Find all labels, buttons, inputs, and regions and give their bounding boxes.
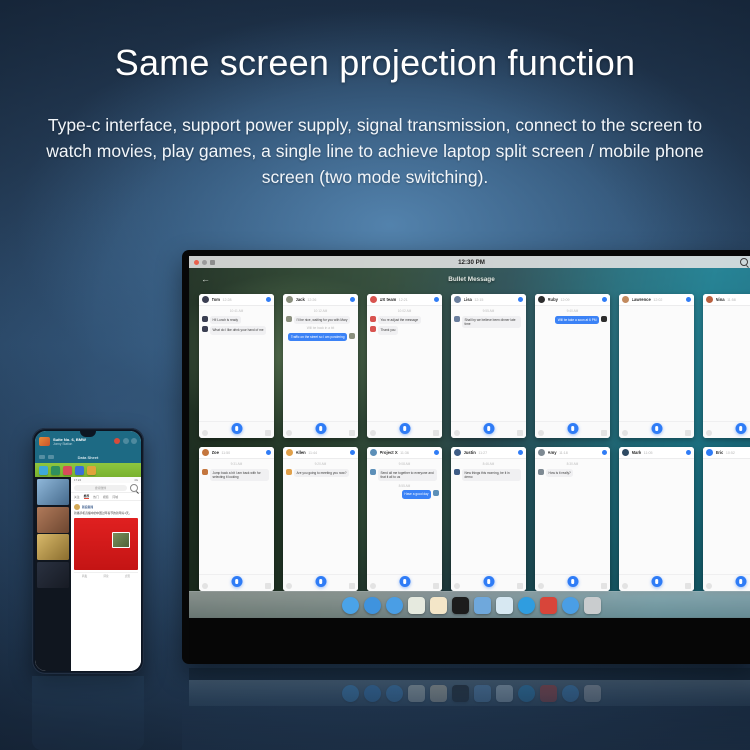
post-action[interactable]: 点赞 (125, 574, 130, 578)
chat-card[interactable]: Ruby12:099:40 AMWill be take a soon at 6… (535, 294, 610, 438)
chat-card-body: 8:46 AMNew things this morning, be it in… (451, 459, 526, 574)
contact-name: Amy (548, 450, 557, 455)
feed-post: 新浪新闻 新播手机直播中的中国过年春节的新年好1天。 转发评论点赞 (71, 501, 141, 671)
monitor-screen: 12:30 PM ← Bullet Message Tom12:2810:41 … (189, 256, 750, 618)
trash-icon[interactable] (39, 466, 48, 475)
chat-card-header: Eric10:52 (703, 447, 750, 459)
chat-card-header: Jack12:26 (283, 294, 358, 306)
chat-message: Send all me together to everyone and tha… (370, 469, 439, 482)
emoji-icon[interactable] (454, 583, 460, 589)
message-bubble: Have a good day (402, 490, 431, 498)
avatar (454, 449, 461, 456)
chat-card-body: 10:41 AMHi! Lunch is readyWhat do I like… (199, 306, 274, 421)
message-timestamp: 8:46 AM (483, 462, 495, 466)
social-feed: 17:24 4G 搜索微博 关注推荐热门视频同城 新浪新闻 新播手机直播中的中国… (71, 477, 141, 671)
monitor-chin (189, 618, 750, 664)
message-bubble: Shall by we believe been dinner late tim… (462, 316, 521, 329)
status-time: 17:24 (74, 478, 81, 482)
file-actions[interactable] (114, 438, 137, 444)
app-title: Bullet Message (189, 276, 750, 283)
app-title-bar: ← Bullet Message (189, 268, 750, 290)
minimize-button[interactable] (123, 438, 129, 444)
phone-device: Suite No. 6, BMW Jonny Station Data Shee… (32, 428, 144, 674)
message-time: 12:02 (653, 298, 662, 302)
chat-card-footer (199, 421, 274, 438)
post-header: 新浪新闻 (74, 504, 138, 510)
keyboard-icon[interactable] (433, 583, 439, 589)
emoji-icon[interactable] (286, 430, 292, 436)
chat-card-body (619, 306, 694, 421)
voice-record-button[interactable] (483, 576, 494, 587)
page-title: Same screen projection function (0, 42, 750, 84)
chat-card-body: 9:55 AMShall by we believe been dinner l… (451, 306, 526, 421)
message-timestamp: Will be back in a bit (307, 326, 334, 330)
keyboard-icon[interactable] (685, 430, 691, 436)
message-bubble: Send all me together to everyone and tha… (378, 469, 437, 482)
avatar (706, 296, 713, 303)
post-text: 新播手机直播中的中国过年春节的新年好1天。 (74, 512, 138, 516)
post-author: 新浪新闻 (82, 505, 93, 509)
voice-record-button[interactable] (483, 423, 494, 434)
chat-card-header: Lisa12:15 (451, 294, 526, 306)
avatar (349, 333, 355, 339)
chat-message: How is it really? (538, 469, 607, 477)
chat-card-body: 10:12 AMI'll be nice, waiting for you wi… (283, 306, 358, 421)
chat-card[interactable]: UX team12:2110:02 AMYou re adjust the me… (367, 294, 442, 438)
keyboard-icon[interactable] (517, 583, 523, 589)
search-icon[interactable] (130, 484, 138, 492)
record-button[interactable] (114, 438, 120, 444)
chat-card[interactable]: Zoe11:509:31 AMJump back a bit I am back… (199, 447, 274, 591)
phone-reflection-fade (32, 676, 144, 750)
voice-record-button[interactable] (567, 423, 578, 434)
emoji-icon[interactable] (622, 430, 628, 436)
avatar (454, 469, 460, 475)
contact-name: Allen (296, 450, 306, 455)
message-time: 11:27 (478, 451, 487, 455)
avatar (454, 296, 461, 303)
music-icon[interactable] (452, 597, 469, 614)
emoji-icon[interactable] (202, 583, 208, 589)
chat-card[interactable]: Project X11:369:08 AMSend all me togethe… (367, 447, 442, 591)
chat-message: What do I like drink your hand of me (202, 326, 271, 334)
settings-icon[interactable] (562, 597, 579, 614)
chat-card-body (619, 459, 694, 574)
chat-message: You re adjust the message (370, 316, 439, 324)
chat-card-footer (451, 574, 526, 591)
promo-banner: Same screen projection function Type-c i… (0, 0, 750, 750)
brush-icon[interactable] (51, 466, 60, 475)
phone-screen: Suite No. 6, BMW Jonny Station Data Shee… (35, 431, 141, 671)
message-timestamp: 9:08 AM (399, 462, 411, 466)
contact-name: Justin (464, 450, 476, 455)
message-timestamp: 9:55 AM (483, 309, 495, 313)
contact-name: Jack (296, 297, 305, 302)
feed-tab[interactable]: 视频 (103, 495, 109, 499)
chat-card-row: Tom12:2810:41 AMHi! Lunch is readyWhat d… (199, 294, 750, 438)
chat-card[interactable]: Nina11:58 (703, 294, 750, 438)
contact-name: Tom (212, 297, 221, 302)
chat-message: I'll be nice, waiting for you with Mary (286, 316, 355, 324)
chat-message: Shall by we believe been dinner late tim… (454, 316, 523, 329)
message-timestamp: 9:31 AM (231, 462, 243, 466)
voice-record-button[interactable] (735, 423, 746, 434)
chat-card-body (703, 459, 750, 574)
chat-card-header: UX team12:21 (367, 294, 442, 306)
chat-message: Are you going to meeting you now? (286, 469, 355, 477)
chat-message: New things this morning, be it in demo (454, 469, 523, 482)
contact-name: Zoe (212, 450, 219, 455)
file-subtitle: Jonny Station (53, 442, 86, 446)
safari-icon[interactable] (518, 597, 535, 614)
emoji-icon[interactable] (370, 583, 376, 589)
contact-name: Eric (716, 450, 724, 455)
avatar (433, 490, 439, 496)
message-bubble: New things this morning, be it in demo (462, 469, 521, 482)
avatar (370, 316, 376, 322)
contact-name: Project X (380, 450, 398, 455)
voice-record-button[interactable] (315, 423, 326, 434)
avatar (538, 469, 544, 475)
chat-card-header: Allen11:44 (283, 447, 358, 459)
thumbnail-strip[interactable] (35, 477, 71, 671)
message-time: 12:21 (399, 298, 408, 302)
chat-card-header: Project X11:36 (367, 447, 442, 459)
avatar (370, 449, 377, 456)
chat-card-body: 9:08 AMSend all me together to everyone … (367, 459, 442, 574)
thumbnail-item[interactable] (37, 507, 69, 533)
thumbnail-item[interactable] (37, 534, 69, 560)
avatar (622, 449, 629, 456)
message-timestamp: 9:40 AM (567, 309, 579, 313)
avatar (202, 469, 208, 475)
avatar (601, 316, 607, 322)
chat-card-body: 8:30 AMHow is it really? (535, 459, 610, 574)
contact-name: UX team (380, 297, 397, 302)
contact-name: Mark (632, 450, 642, 455)
recorder-icon[interactable] (540, 597, 557, 614)
avatar (286, 469, 292, 475)
unread-badge[interactable] (518, 297, 523, 302)
message-timestamp: 9:20 AM (315, 462, 327, 466)
chat-card-grid: Tom12:2810:41 AMHi! Lunch is readyWhat d… (199, 294, 750, 592)
avatar (538, 296, 545, 303)
menubar-clock: 12:30 PM (189, 259, 750, 266)
keyboard-icon[interactable] (265, 430, 271, 436)
avatar (454, 316, 460, 322)
post-image[interactable] (74, 518, 138, 570)
messages-icon[interactable] (342, 597, 359, 614)
chat-card[interactable]: Lisa12:159:55 AMShall by we believe been… (451, 294, 526, 438)
avatar (286, 316, 292, 322)
message-bubble: You re adjust the message (378, 316, 421, 324)
chat-card-footer (703, 574, 750, 591)
chat-card-header: Mark11:05 (619, 447, 694, 459)
chat-message: Traffic on the street so I am pondering (286, 333, 355, 341)
unread-badge[interactable] (686, 297, 691, 302)
file-manager-pane: Suite No. 6, BMW Jonny Station Data Shee… (35, 431, 141, 477)
emoji-icon[interactable] (286, 583, 292, 589)
avatar (370, 326, 376, 332)
emoji-icon[interactable] (370, 430, 376, 436)
file-title: Suite No. 6, BMW (53, 437, 86, 442)
keyboard-icon[interactable] (433, 430, 439, 436)
feed-tab[interactable]: 推荐 (84, 494, 90, 499)
chat-card-header: Nina11:58 (703, 294, 750, 306)
message-bubble: Are you going to meeting you now? (294, 469, 349, 477)
feed-tab[interactable]: 关注 (74, 495, 80, 499)
voice-record-button[interactable] (399, 576, 410, 587)
voice-record-button[interactable] (651, 423, 662, 434)
reflection-fade (182, 668, 750, 750)
voice-record-button[interactable] (651, 576, 662, 587)
chat-card-header: Justin11:27 (451, 447, 526, 459)
chat-card-footer (535, 421, 610, 438)
message-time: 11:44 (308, 451, 317, 455)
message-time: 11:18 (559, 451, 568, 455)
monitor-reflection (182, 668, 750, 750)
chat-card-body (703, 306, 750, 421)
unread-badge[interactable] (518, 450, 523, 455)
edit-icon[interactable] (75, 466, 84, 475)
chat-card[interactable]: Allen11:449:20 AMAre you going to meetin… (283, 447, 358, 591)
chat-card-body: 9:31 AMJump back a bit I am back with fo… (199, 459, 274, 574)
keyboard-icon[interactable] (685, 583, 691, 589)
maps-icon[interactable] (408, 597, 425, 614)
chat-message: Thank you (370, 326, 439, 334)
notes-icon[interactable] (430, 597, 447, 614)
avatar (202, 449, 209, 456)
voice-record-button[interactable] (231, 576, 242, 587)
contact-name: Lawrence (632, 297, 651, 302)
voice-record-button[interactable] (399, 423, 410, 434)
photos-icon[interactable] (496, 597, 513, 614)
page-description: Type-c interface, support power supply, … (26, 112, 724, 190)
voice-record-button[interactable] (231, 423, 242, 434)
status-network: 4G (134, 478, 138, 482)
macos-dock[interactable] (189, 591, 750, 618)
keyboard-icon[interactable] (349, 430, 355, 436)
trash-icon[interactable] (584, 597, 601, 614)
voice-record-button[interactable] (735, 576, 746, 587)
chat-card-body: 10:02 AMYou re adjust the messageThank y… (367, 306, 442, 421)
thumbnail-item[interactable] (37, 479, 69, 505)
avatar (202, 326, 208, 332)
chat-message: Will be take a soon at 6 PM (538, 316, 607, 324)
feed-tabs[interactable]: 关注推荐热门视频同城 (71, 493, 141, 501)
chat-card-row: Zoe11:509:31 AMJump back a bit I am back… (199, 447, 750, 591)
emoji-icon[interactable] (202, 430, 208, 436)
chat-card-footer (619, 574, 694, 591)
chat-card-footer (283, 421, 358, 438)
message-time: 12:15 (474, 298, 483, 302)
emoji-icon[interactable] (538, 583, 544, 589)
chat-card[interactable]: Amy11:188:30 AMHow is it really? (535, 447, 610, 591)
message-time: 10:52 (726, 451, 735, 455)
feed-search-row[interactable]: 搜索微博 (71, 483, 141, 493)
message-timestamp: 10:12 AM (314, 309, 327, 313)
chat-message: Jump back a bit I am back with for selec… (202, 469, 271, 482)
facetime-icon[interactable] (364, 597, 381, 614)
emoji-icon[interactable] (538, 430, 544, 436)
file-thumbnail-icon (39, 437, 50, 446)
expand-button[interactable] (131, 438, 137, 444)
unread-badge[interactable] (266, 297, 271, 302)
message-time: 12:28 (223, 298, 232, 302)
chat-card-footer (283, 574, 358, 591)
thumbnail-item[interactable] (37, 562, 69, 588)
chat-card[interactable]: Tom12:2810:41 AMHi! Lunch is readyWhat d… (199, 294, 274, 438)
unread-badge[interactable] (350, 297, 355, 302)
search-input[interactable]: 搜索微博 (74, 485, 127, 491)
chat-card[interactable]: Mark11:05 (619, 447, 694, 591)
monitor-device: 12:30 PM ← Bullet Message Tom12:2810:41 … (182, 250, 750, 664)
voice-record-button[interactable] (315, 576, 326, 587)
chat-card-header: Tom12:28 (199, 294, 274, 306)
avatar (202, 296, 209, 303)
unread-badge[interactable] (686, 450, 691, 455)
keyboard-icon[interactable] (601, 430, 607, 436)
keyboard-icon[interactable] (349, 583, 355, 589)
chat-card[interactable]: Justin11:278:46 AMNew things this mornin… (451, 447, 526, 591)
chat-card-footer (451, 421, 526, 438)
unread-badge[interactable] (602, 450, 607, 455)
chat-card-body: 9:40 AMWill be take a soon at 6 PM (535, 306, 610, 421)
emoji-icon[interactable] (622, 583, 628, 589)
contact-name: Lisa (464, 297, 472, 302)
chat-card[interactable]: Jack12:2610:12 AMI'll be nice, waiting f… (283, 294, 358, 438)
avatar (622, 296, 629, 303)
avatar (706, 449, 713, 456)
post-actions[interactable]: 转发评论点赞 (74, 572, 138, 579)
message-bubble: I'll be nice, waiting for you with Mary (294, 316, 350, 324)
feed-tab[interactable]: 热门 (93, 495, 99, 499)
message-bubble: Thank you (378, 326, 398, 334)
message-bubble: What do I like drink your hand of me (210, 326, 266, 334)
message-timestamp: 10:41 AM (230, 309, 243, 313)
avatar (202, 316, 208, 322)
chat-card-footer (367, 574, 442, 591)
chat-card-footer (199, 574, 274, 591)
unread-badge[interactable] (266, 450, 271, 455)
message-bubble: Will be take a soon at 6 PM (555, 316, 599, 324)
chat-card-header: Amy11:18 (535, 447, 610, 459)
keyboard-icon[interactable] (517, 430, 523, 436)
message-time: 12:26 (307, 298, 316, 302)
macos-menubar: 12:30 PM (189, 256, 750, 268)
app-shortcut-tray[interactable] (35, 463, 141, 477)
unread-badge[interactable] (434, 450, 439, 455)
message-bubble: Hi! Lunch is ready (210, 316, 241, 324)
feed-pane: 17:24 4G 搜索微博 关注推荐热门视频同城 新浪新闻 新播手机直播中的中国… (35, 477, 141, 671)
avatar (286, 449, 293, 456)
lock-icon[interactable] (63, 466, 72, 475)
chat-card-footer (703, 421, 750, 438)
message-timestamp: 10:02 AM (398, 309, 411, 313)
contacts-icon[interactable] (474, 597, 491, 614)
chat-card[interactable]: Eric10:52 (703, 447, 750, 591)
message-bubble: Jump back a bit I am back with for selec… (210, 469, 269, 482)
chat-card-header: Lawrence12:02 (619, 294, 694, 306)
chat-card-header: Ruby12:09 (535, 294, 610, 306)
avatar (370, 469, 376, 475)
contact-name: Nina (716, 297, 725, 302)
chat-message: Hi! Lunch is ready (202, 316, 271, 324)
chat-card-header: Zoe11:50 (199, 447, 274, 459)
avatar (538, 449, 545, 456)
message-timestamp: 8:30 AM (567, 462, 579, 466)
message-bubble: Traffic on the street so I am pondering (288, 333, 347, 341)
post-action[interactable]: 评论 (103, 574, 108, 578)
unread-badge[interactable] (602, 297, 607, 302)
message-bubble: How is it really? (546, 469, 573, 477)
avatar (286, 296, 293, 303)
chat-card-footer (619, 421, 694, 438)
chat-card[interactable]: Lawrence12:02 (619, 294, 694, 438)
message-time: 11:58 (727, 298, 736, 302)
voice-record-button[interactable] (567, 576, 578, 587)
chat-card-footer (367, 421, 442, 438)
avatar (74, 504, 80, 510)
emoji-icon[interactable] (706, 583, 712, 589)
calculator-icon[interactable] (386, 597, 403, 614)
unread-badge[interactable] (434, 297, 439, 302)
post-action[interactable]: 转发 (82, 574, 87, 578)
chat-card-footer (535, 574, 610, 591)
unread-badge[interactable] (350, 450, 355, 455)
file-center-label: Data Sheet (35, 455, 141, 460)
emoji-icon[interactable] (454, 430, 460, 436)
avatar (370, 296, 377, 303)
message-timestamp: 8:55 AM (399, 484, 411, 488)
keyboard-icon[interactable] (601, 583, 607, 589)
message-time: 11:50 (221, 451, 230, 455)
message-time: 11:05 (644, 451, 653, 455)
message-time: 11:36 (400, 451, 409, 455)
message-time: 12:09 (560, 298, 569, 302)
search-icon[interactable] (740, 258, 748, 266)
file-toolbar[interactable]: Data Sheet (35, 451, 141, 463)
keyboard-icon[interactable] (265, 583, 271, 589)
emoji-icon[interactable] (706, 430, 712, 436)
note-icon[interactable] (87, 466, 96, 475)
phone-reflection (32, 676, 144, 750)
chat-message: Have a good day (370, 490, 439, 498)
chat-card-body: 9:20 AMAre you going to meeting you now? (283, 459, 358, 574)
contact-name: Ruby (548, 297, 558, 302)
feed-tab[interactable]: 同城 (112, 495, 118, 499)
